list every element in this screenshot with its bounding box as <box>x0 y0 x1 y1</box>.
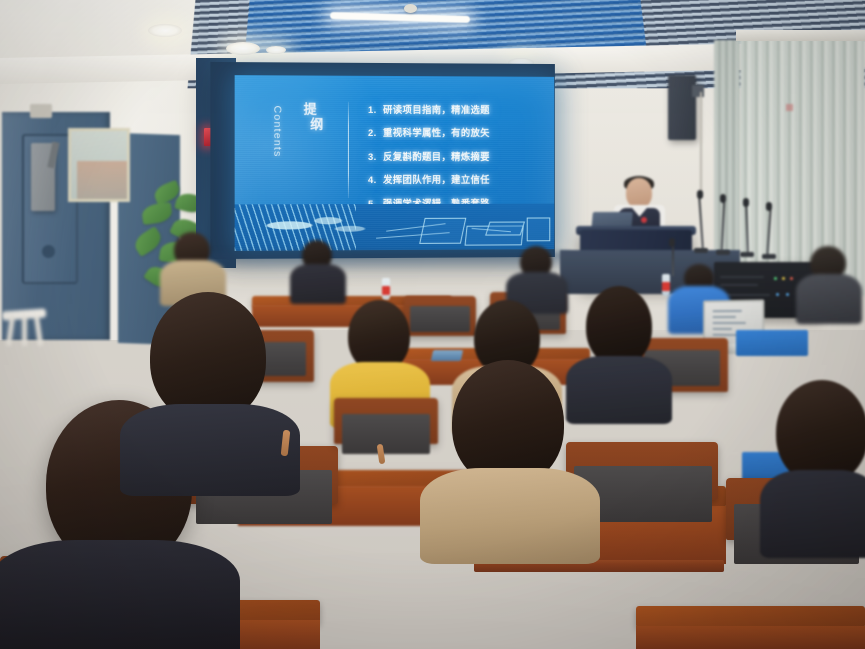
projection-screen: 提 纲 Contents 1.研读项目指南，精准选题 2.重视科学属性，有的放矢… <box>235 75 555 251</box>
list-item-number: 1. <box>368 105 383 114</box>
curtain-mark <box>786 104 793 111</box>
slide-title-en: Contents <box>271 106 283 158</box>
list-item-number: 4. <box>368 175 383 184</box>
chair-seat <box>736 330 808 356</box>
conference-room-photo: 提 纲 Contents 1.研读项目指南，精准选题 2.重视科学属性，有的放矢… <box>0 0 865 649</box>
slide-title-char-1: 提 <box>279 102 342 118</box>
audience-person <box>796 246 862 318</box>
presenter-badge <box>641 217 647 223</box>
door-handle[interactable] <box>42 245 55 258</box>
downlight-icon <box>226 42 260 55</box>
list-item-number: 3. <box>368 152 383 161</box>
slide-divider <box>348 102 349 198</box>
audience-person <box>120 292 300 482</box>
slide-content: 提 纲 Contents 1.研读项目指南，精准选题 2.重视科学属性，有的放矢… <box>235 75 555 251</box>
slide-title-cn: 提 纲 <box>279 102 342 133</box>
list-item: 1.研读项目指南，精准选题 <box>368 105 490 115</box>
list-item-text: 重视科学属性，有的放矢 <box>383 127 490 138</box>
list-item-number: 2. <box>368 128 383 137</box>
audience-person <box>506 246 568 306</box>
slide-title-char-2: 纲 <box>292 117 341 133</box>
presenter-head <box>626 178 652 208</box>
audience-person <box>760 380 865 550</box>
white-plastic-chair[interactable] <box>2 296 46 348</box>
downlight-icon <box>148 24 182 37</box>
slide-decoration-band <box>235 204 555 251</box>
curtain-rail <box>736 30 865 41</box>
list-item: 2.重视科学属性，有的放矢 <box>368 128 490 138</box>
desk-panel <box>636 626 865 649</box>
speaker-cable <box>700 92 702 197</box>
audience-person <box>420 360 600 550</box>
list-item-text: 反复斟酌题目，精炼摘要 <box>383 151 490 162</box>
audience-person <box>290 240 346 300</box>
wall-vent <box>30 104 52 118</box>
desk-foreground <box>636 606 865 628</box>
list-item: 3.反复斟酌题目，精炼摘要 <box>368 152 490 161</box>
list-item-text: 研读项目指南，精准选题 <box>383 104 490 115</box>
chair-pad <box>342 414 430 454</box>
ceiling-sensor-icon <box>404 4 417 13</box>
list-item-text: 发挥团队作用，建立信任 <box>383 174 490 185</box>
speaker-bracket <box>692 85 704 97</box>
list-item: 4.发挥团队作用，建立信任 <box>368 175 490 185</box>
audience-person <box>160 232 226 300</box>
downlight-icon <box>266 46 286 54</box>
curtain-edge <box>714 40 740 270</box>
water-bottle[interactable] <box>382 278 390 300</box>
